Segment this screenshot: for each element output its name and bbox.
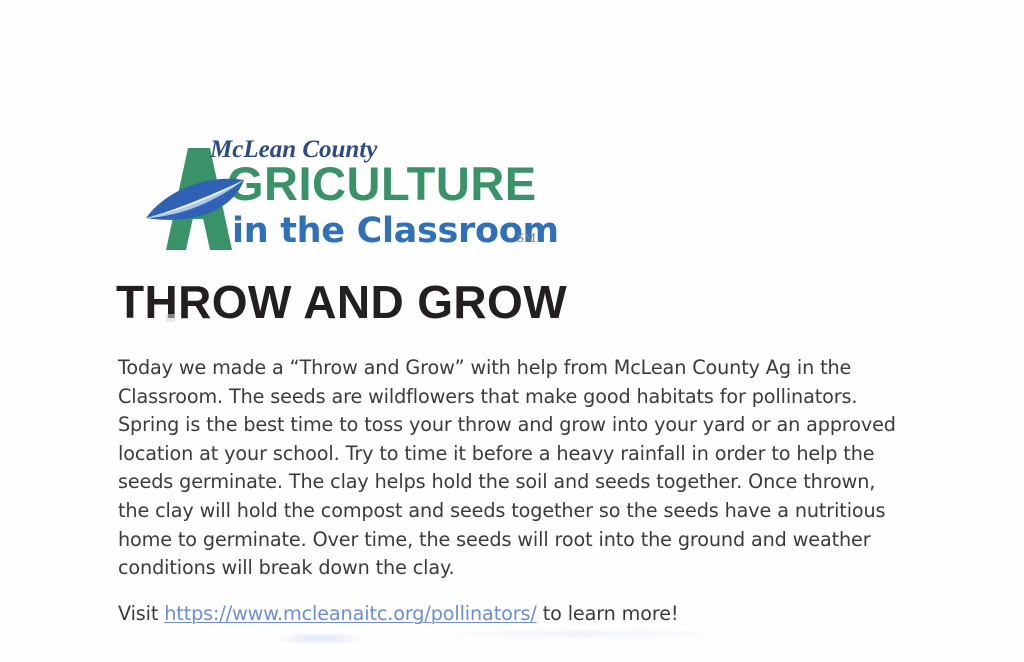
visit-prefix-text: Visit [118,602,164,625]
visit-suffix-text: to learn more! [537,602,679,625]
visit-line: Visit https://www.mcleanaitc.org/pollina… [118,600,908,629]
scan-artifact-smudge [272,632,368,645]
organization-logo: McLean County GRICULTURE in the Classroo… [122,132,572,267]
logo-service-mark: SM [517,230,536,245]
logo-leaf-icon [146,179,244,220]
pollinators-link[interactable]: https://www.mcleanaitc.org/pollinators/ [164,602,536,625]
logo-word-in-the-classroom: in the Classroom [232,211,559,251]
logo-graphic: McLean County GRICULTURE in the Classroo… [122,132,572,267]
logo-word-agriculture: GRICULTURE [227,157,537,210]
document-page: McLean County GRICULTURE in the Classroo… [0,0,1024,662]
body-paragraph: Today we made a “Throw and Grow” with he… [118,354,908,583]
page-title: THROW AND GROW [116,277,567,327]
scan-artifact-smudge-secondary [430,628,730,640]
